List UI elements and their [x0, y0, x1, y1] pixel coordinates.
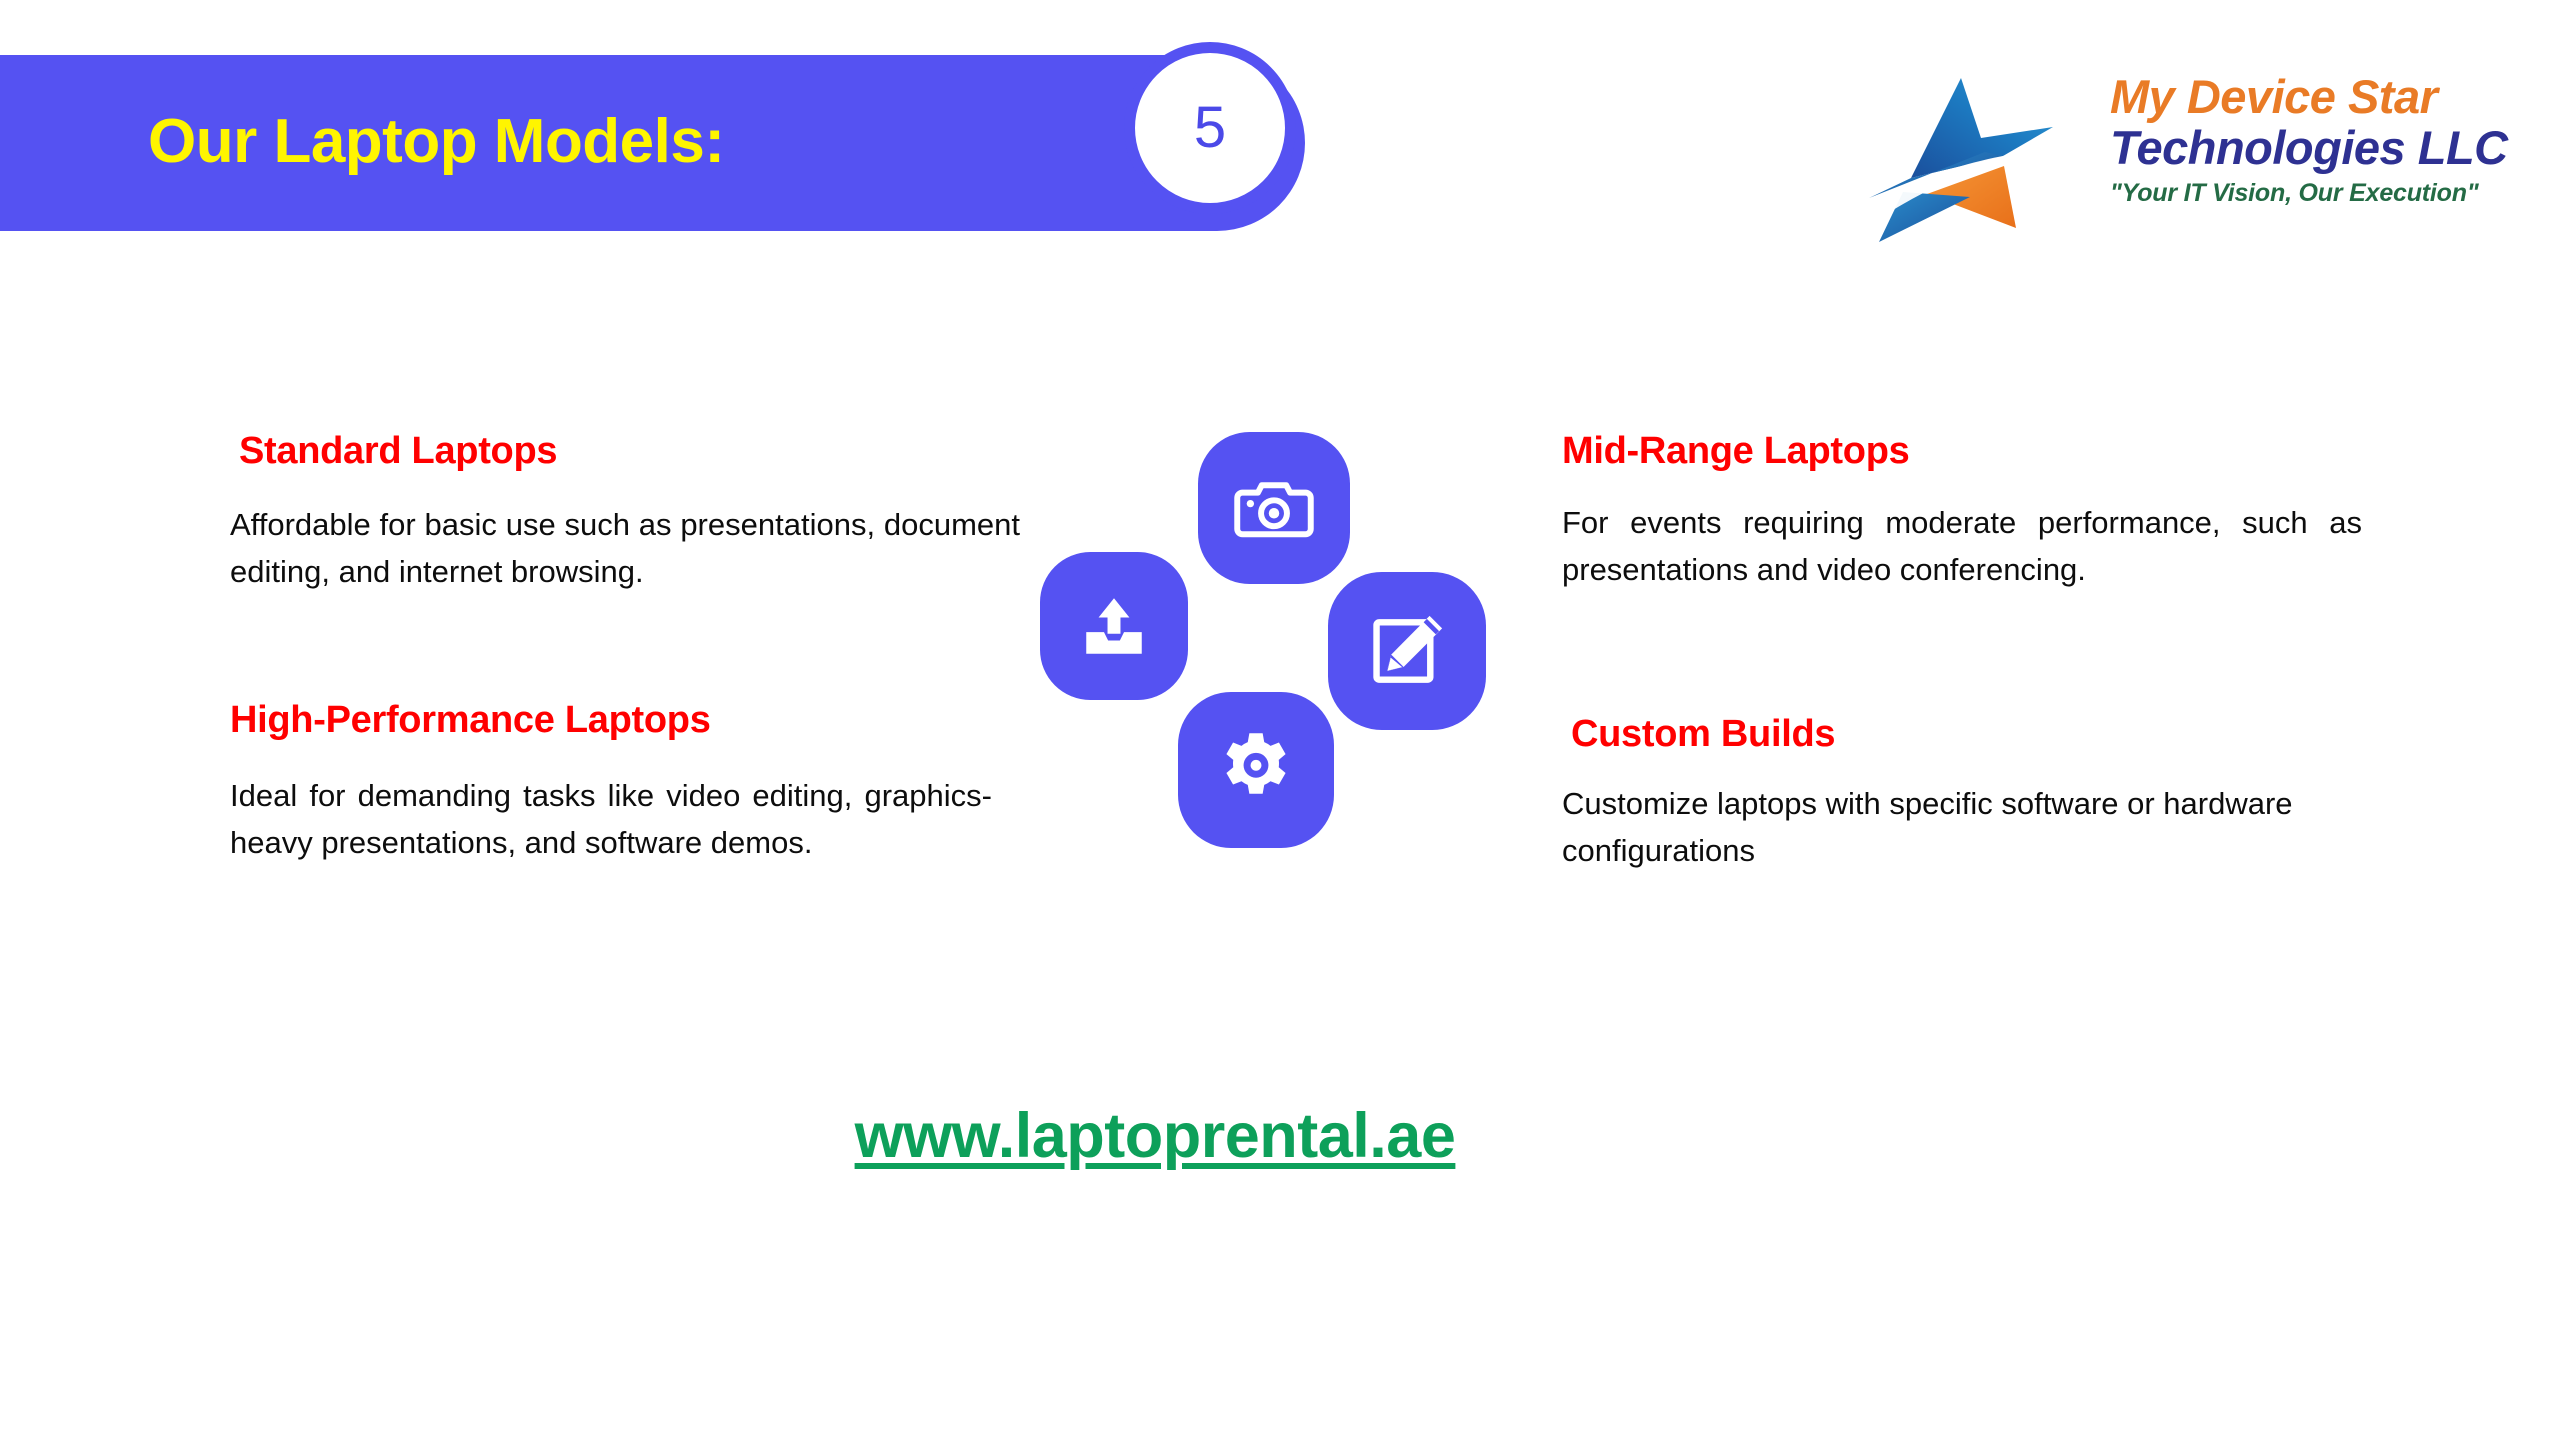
header-banner: Our Laptop Models:	[0, 55, 1305, 231]
feature-heading-high-performance-laptops: High-Performance Laptops	[230, 699, 1030, 742]
feature-block-standard-laptops: Standard Laptops Affordable for basic us…	[230, 430, 1030, 595]
star-swoosh-logo-icon	[1865, 70, 2090, 250]
feature-heading-standard-laptops: Standard Laptops	[239, 430, 1030, 473]
company-logo: My Device Star Technologies LLC "Your IT…	[1865, 60, 2505, 280]
gear-icon-tile	[1178, 692, 1334, 848]
upload-icon	[1077, 589, 1151, 663]
feature-block-mid-range-laptops: Mid-Range Laptops For events requiring m…	[1562, 430, 2362, 593]
edit-icon-tile	[1328, 572, 1486, 730]
features-column-left: Standard Laptops Affordable for basic us…	[230, 430, 1030, 866]
features-column-right: Mid-Range Laptops For events requiring m…	[1562, 430, 2362, 874]
gear-icon	[1214, 728, 1298, 812]
logo-company-name-line2: Technologies LLC	[2110, 123, 2510, 174]
feature-body-high-performance-laptops: Ideal for demanding tasks like video edi…	[230, 772, 992, 866]
feature-body-mid-range-laptops: For events requiring moderate performanc…	[1562, 499, 2362, 593]
page-title: Our Laptop Models:	[148, 106, 725, 177]
slide-number-badge: 5	[1124, 42, 1296, 214]
camera-icon	[1232, 466, 1316, 550]
logo-company-name-line1: My Device Star	[2110, 72, 2510, 123]
website-link-text[interactable]: www.laptoprental.ae	[855, 1100, 1456, 1172]
feature-body-custom-builds: Customize laptops with specific software…	[1562, 780, 2352, 874]
feature-body-standard-laptops: Affordable for basic use such as present…	[230, 501, 1020, 595]
logo-text-block: My Device Star Technologies LLC "Your IT…	[2110, 72, 2510, 208]
feature-block-custom-builds: Custom Builds Customize laptops with spe…	[1562, 713, 2362, 874]
website-link[interactable]: www.laptoprental.ae	[0, 1100, 2560, 1172]
slide-number-text: 5	[1194, 99, 1226, 157]
upload-icon-tile	[1040, 552, 1188, 700]
logo-tagline: "Your IT Vision, Our Execution"	[2110, 179, 2510, 208]
feature-heading-mid-range-laptops: Mid-Range Laptops	[1562, 430, 2362, 473]
feature-heading-custom-builds: Custom Builds	[1571, 713, 2362, 756]
edit-icon	[1364, 608, 1450, 694]
feature-block-high-performance-laptops: High-Performance Laptops Ideal for deman…	[230, 699, 1030, 866]
camera-icon-tile	[1198, 432, 1350, 584]
icon-cluster	[1040, 432, 1510, 852]
